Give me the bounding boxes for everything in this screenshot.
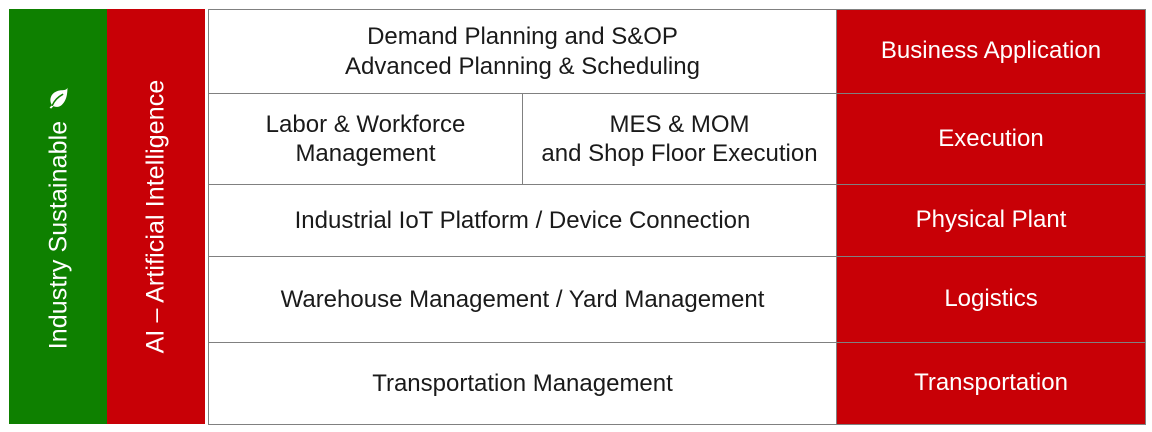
layer-label-transportation[interactable]: Transportation	[836, 342, 1146, 425]
industry-sustainable-label: Industry Sustainable	[46, 120, 71, 349]
row-capability-group: Demand Planning and S&OP Advanced Planni…	[208, 9, 836, 93]
artificial-intelligence-vertical-text: AI – Artificial Intelligence	[144, 80, 169, 354]
layer-label-business-application[interactable]: Business Application	[836, 9, 1146, 94]
layer-label-logistics[interactable]: Logistics	[836, 256, 1146, 343]
capability-cell-warehouse-yard-management[interactable]: Warehouse Management / Yard Management	[208, 256, 837, 343]
capability-cell-demand-planning[interactable]: Demand Planning and S&OP Advanced Planni…	[208, 9, 837, 94]
capability-cell-mes-mom-shop-floor-execution[interactable]: MES & MOM and Shop Floor Execution	[522, 93, 837, 185]
matrix-row-transportation: Transportation Management Transportation	[208, 342, 1145, 424]
matrix-row-business-application: Demand Planning and S&OP Advanced Planni…	[208, 9, 1145, 93]
matrix-row-physical-plant: Industrial IoT Platform / Device Connect…	[208, 184, 1145, 256]
capability-matrix: Demand Planning and S&OP Advanced Planni…	[208, 9, 1145, 424]
capability-cell-industrial-iot-platform[interactable]: Industrial IoT Platform / Device Connect…	[208, 184, 837, 257]
matrix-row-logistics: Warehouse Management / Yard Management L…	[208, 256, 1145, 342]
row-capability-group: Labor & Workforce Management MES & MOM a…	[208, 93, 836, 184]
diagram-canvas: Industry Sustainable AI – Artificial Int…	[0, 0, 1152, 432]
layer-label-physical-plant[interactable]: Physical Plant	[836, 184, 1146, 257]
row-capability-group: Transportation Management	[208, 342, 836, 424]
capability-cell-labor-workforce-management[interactable]: Labor & Workforce Management	[208, 93, 523, 185]
industry-sustainable-vertical-text: Industry Sustainable	[45, 84, 71, 349]
row-capability-group: Industrial IoT Platform / Device Connect…	[208, 184, 836, 256]
row-capability-group: Warehouse Management / Yard Management	[208, 256, 836, 342]
layer-label-execution[interactable]: Execution	[836, 93, 1146, 185]
matrix-row-execution: Labor & Workforce Management MES & MOM a…	[208, 93, 1145, 184]
leaf-icon	[45, 84, 71, 110]
band-artificial-intelligence: AI – Artificial Intelligence	[107, 9, 205, 424]
artificial-intelligence-label: AI – Artificial Intelligence	[144, 80, 169, 354]
band-industry-sustainable: Industry Sustainable	[9, 9, 107, 424]
capability-cell-transportation-management[interactable]: Transportation Management	[208, 342, 837, 425]
